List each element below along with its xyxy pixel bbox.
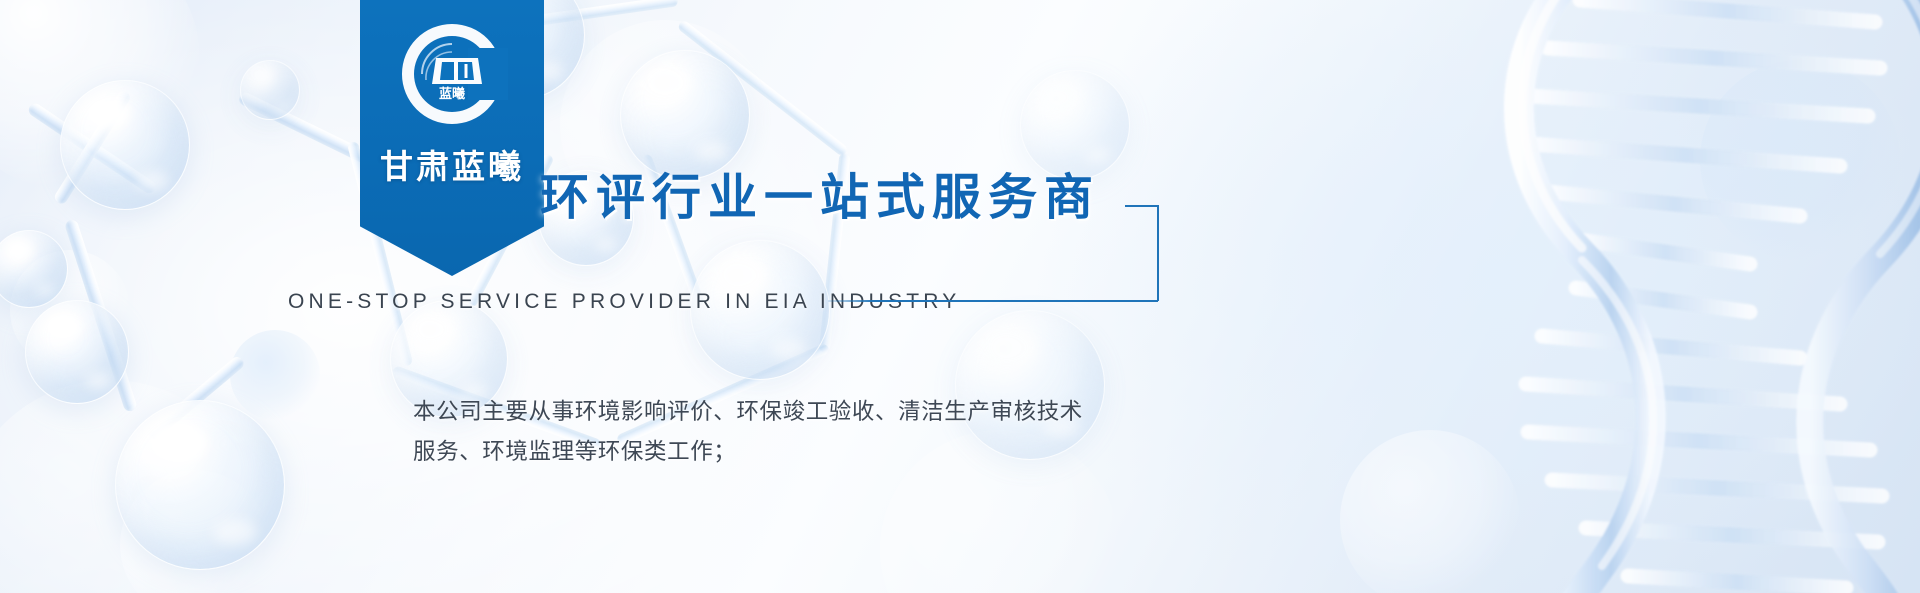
- decorative-bracket: [1125, 205, 1159, 301]
- promo-banner: 蓝曦 甘肃蓝曦 环评行业一站式服务商 ONE-STOP SERVICE PROV…: [0, 0, 1920, 593]
- lanxi-circular-emblem-icon: 蓝曦: [396, 18, 508, 130]
- svg-text:蓝曦: 蓝曦: [439, 86, 465, 102]
- page-subtitle-en: ONE-STOP SERVICE PROVIDER IN EIA INDUSTR…: [288, 290, 960, 314]
- page-title: 环评行业一站式服务商: [540, 158, 1100, 229]
- description-text: 本公司主要从事环境影响评价、环保竣工验收、清洁生产审核技术 服务、环境监理等环保…: [413, 392, 1083, 472]
- dna-double-helix: [1280, 0, 1920, 593]
- brand-ribbon: 蓝曦 甘肃蓝曦: [360, 0, 544, 276]
- decorative-rule: [828, 300, 1158, 302]
- ribbon-company-name: 甘肃蓝曦: [360, 140, 544, 188]
